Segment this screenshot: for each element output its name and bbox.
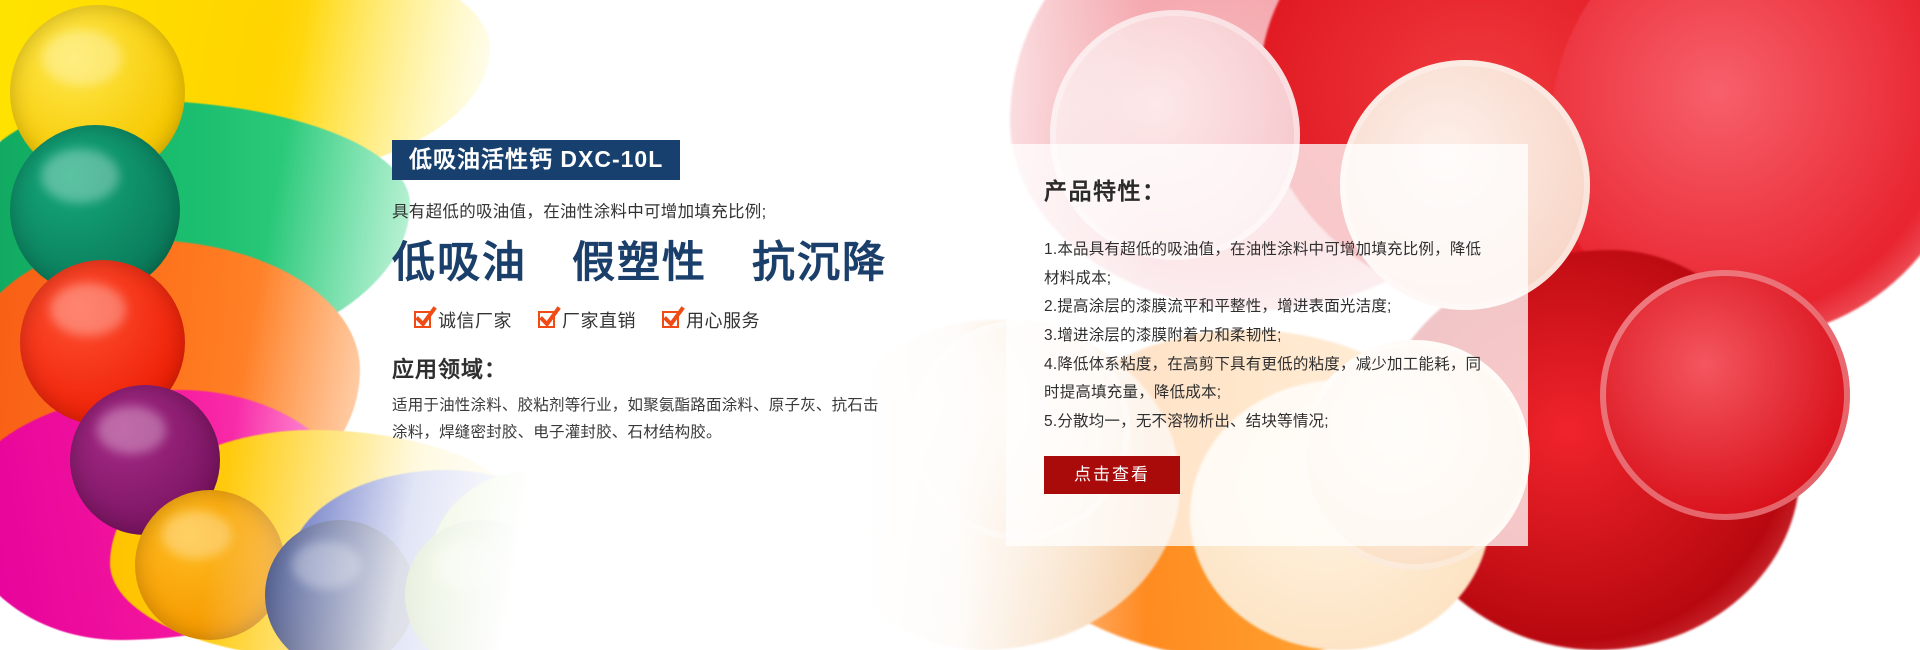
product-title-badge: 低吸油活性钙 DXC-10L [392,140,680,180]
product-banner: 低吸油活性钙 DXC-10L 具有超低的吸油值，在油性涂料中可增加填充比例; 低… [0,0,1920,650]
features-list: 1.本品具有超低的吸油值，在油性涂料中可增加填充比例，降低材料成本; 2.提高涂… [1044,236,1490,437]
check-icon [538,311,555,328]
selling-point-factory-direct: 厂家直销 [538,307,636,333]
green-paint-stroke [0,100,410,360]
check-icon [414,311,431,328]
red-paint-pot [20,260,185,425]
crimson-paint-spill [1550,0,1920,340]
check-icon [662,311,679,328]
product-features-panel: 产品特性： 1.本品具有超低的吸油值，在油性涂料中可增加填充比例，降低材料成本;… [1006,144,1528,546]
navy-paint-pot [265,520,415,650]
green-paint-pot [10,125,180,295]
selling-point-label: 厂家直销 [562,307,636,333]
application-section-body: 适用于油性涂料、胶粘剂等行业，如聚氨酯路面涂料、原子灰、抗石击涂料，焊缝密封胶、… [392,392,892,446]
yellow-paint-pot [10,5,185,180]
lime-paint-stroke [430,470,620,650]
feature-item: 4.降低体系粘度，在高剪下具有更低的粘度，减少加工能耗，同时提高填充量，降低成本… [1044,351,1490,408]
feature-item: 3.增进涂层的漆膜附着力和柔韧性; [1044,322,1490,351]
product-subtitle: 具有超低的吸油值，在油性涂料中可增加填充比例; [392,201,952,224]
feature-item: 5.分散均一，无不溶物析出、结块等情况; [1044,408,1490,437]
selling-points-row: 诚信厂家 厂家直销 用心服务 [392,307,952,333]
features-panel-title: 产品特性： [1044,172,1490,206]
blue-paint-stroke [290,470,590,650]
product-headline: 低吸油 假塑性 抗沉降 [392,238,952,290]
purple-paint-pot [70,385,220,535]
orange-paint-stroke [0,240,360,510]
magenta-paint-stroke [0,390,360,640]
view-details-button[interactable]: 点击查看 [1044,456,1180,494]
green-paint-pot-2 [405,520,555,650]
gold-paint-stroke [110,430,530,650]
application-section-title: 应用领域： [392,352,952,384]
orange-paint-pot [135,490,285,640]
selling-point-label: 诚信厂家 [438,307,512,333]
product-copy-block: 低吸油活性钙 DXC-10L 具有超低的吸油值，在油性涂料中可增加填充比例; 低… [392,140,952,446]
selling-point-honest-manufacturer: 诚信厂家 [414,307,512,333]
selling-point-label: 用心服务 [686,307,760,333]
feature-item: 2.提高涂层的漆膜流平和平整性，增进表面光洁度; [1044,293,1490,322]
feature-item: 1.本品具有超低的吸油值，在油性涂料中可增加填充比例，降低材料成本; [1044,236,1490,293]
selling-point-attentive-service: 用心服务 [662,307,760,333]
red-paint-dish [1600,270,1850,520]
